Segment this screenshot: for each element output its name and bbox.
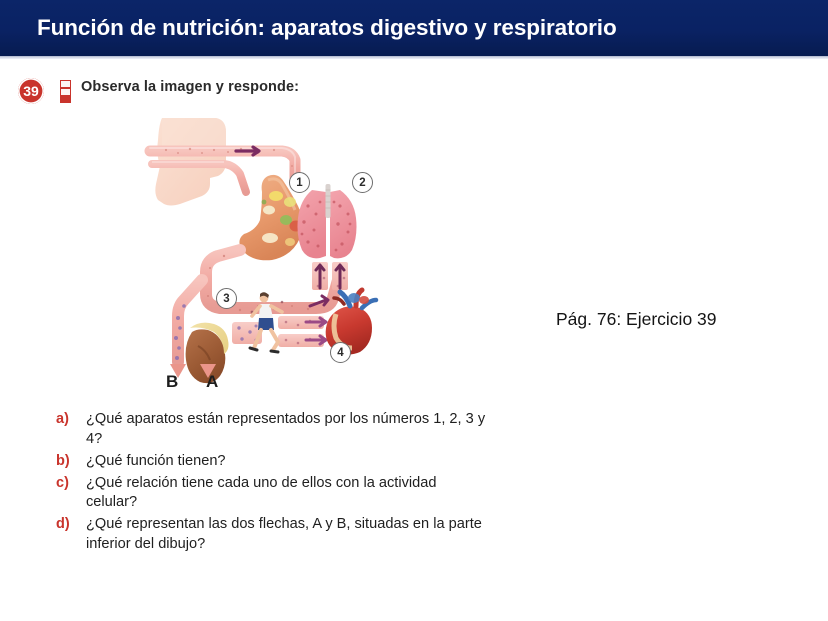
question-text-d: ¿Qué representan las dos flechas, A y B,…	[86, 515, 486, 555]
figure-number-4: 4	[330, 342, 351, 363]
figure-number-2: 2	[352, 172, 373, 193]
exercise-number-badge: 39	[18, 78, 44, 104]
anatomy-illustration-svg	[140, 110, 400, 400]
workbook-icon-segment-bottom	[60, 96, 71, 103]
workbook-icon	[60, 80, 71, 103]
title-banner: Función de nutrición: aparatos digestivo…	[0, 0, 828, 56]
question-text-a: ¿Qué aparatos están representados por lo…	[86, 410, 486, 450]
banner-underline-divider	[0, 56, 828, 59]
question-item-b: b) ¿Qué función tienen?	[56, 452, 496, 472]
lungs	[298, 184, 357, 258]
figure-number-1: 1	[289, 172, 310, 193]
exercise-instruction: Observa la imagen y responde:	[81, 79, 299, 95]
flow-arrow-label-b: B	[166, 372, 178, 392]
question-text-c: ¿Qué relación tiene cada uno de ellos co…	[86, 474, 486, 514]
pulmonary-capillaries	[312, 262, 348, 290]
flow-arrow-label-a: A	[206, 372, 218, 392]
question-item-d: d) ¿Qué representan las dos flechas, A y…	[56, 515, 496, 555]
page-reference-text: Pág. 76: Ejercicio 39	[556, 309, 717, 330]
question-letter-d: d)	[56, 515, 86, 532]
question-item-c: c) ¿Qué relación tiene cada uno de ellos…	[56, 474, 496, 514]
question-letter-c: c)	[56, 474, 86, 491]
exercise-header: 39 Observa la imagen y responde:	[0, 78, 520, 106]
systemic-capillaries	[278, 316, 326, 347]
questions-list: a) ¿Qué aparatos están representados por…	[56, 410, 496, 557]
workbook-icon-segment-top	[60, 80, 71, 88]
anatomy-illustration: 1 2 3 4 B A	[140, 110, 400, 400]
question-letter-b: b)	[56, 452, 86, 469]
page-title: Función de nutrición: aparatos digestivo…	[37, 15, 617, 41]
question-item-a: a) ¿Qué aparatos están representados por…	[56, 410, 496, 450]
question-letter-a: a)	[56, 410, 86, 427]
figure-number-3: 3	[216, 288, 237, 309]
question-text-b: ¿Qué función tienen?	[86, 452, 486, 472]
workbook-icon-segment-middle	[60, 88, 71, 96]
